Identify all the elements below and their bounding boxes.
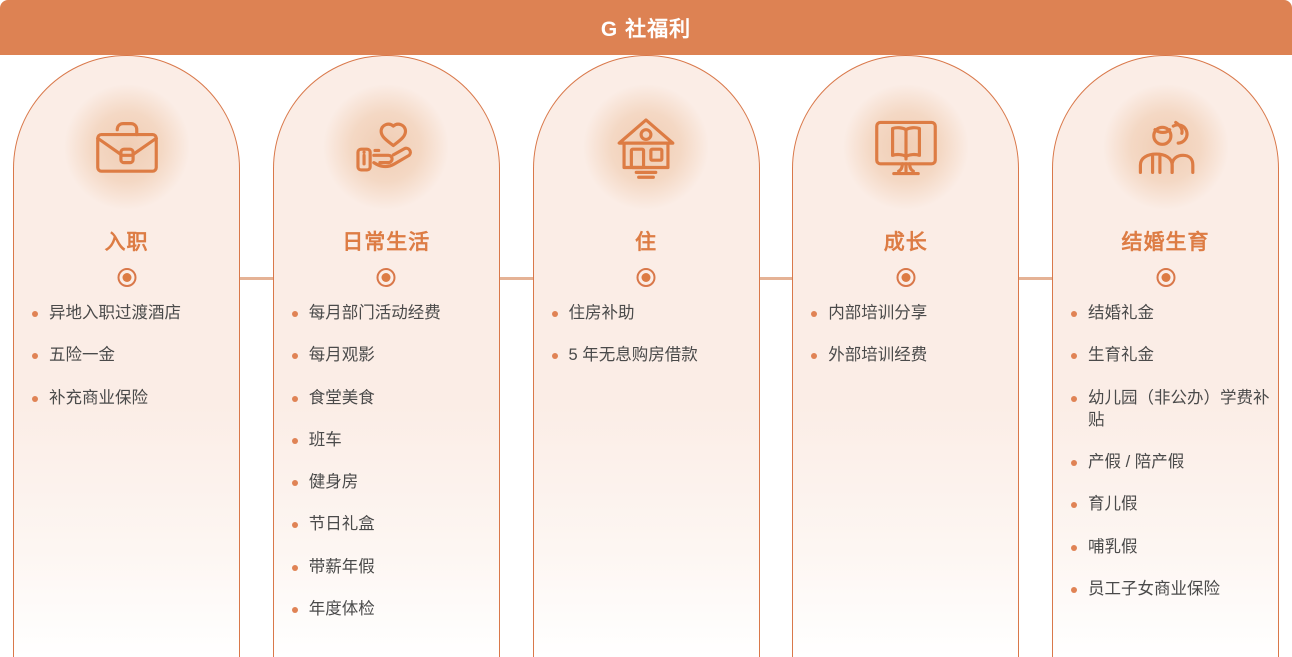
benefit-list: 结婚礼金生育礼金幼儿园（非公办）学费补贴产假 / 陪产假育儿假哺乳假员工子女商业… <box>1053 302 1278 620</box>
benefit-list-item-label: 异地入职过渡酒店 <box>49 302 233 324</box>
timeline-node <box>896 268 915 287</box>
benefit-list-item-label: 5 年无息购房借款 <box>569 344 753 366</box>
benefit-list-item: 员工子女商业保险 <box>1071 578 1272 600</box>
benefit-list-item-label: 每月部门活动经费 <box>309 302 493 324</box>
benefit-card-title: 结婚生育 <box>1053 226 1278 256</box>
benefit-list-item-label: 五险一金 <box>49 344 233 366</box>
benefit-list-item: 每月部门活动经费 <box>292 302 493 324</box>
benefit-list-item-label: 住房补助 <box>569 302 753 324</box>
benefit-list-item: 班车 <box>292 429 493 451</box>
bullet-icon <box>32 353 38 359</box>
benefit-list-item-label: 班车 <box>309 429 493 451</box>
bullet-icon <box>1071 396 1077 402</box>
benefit-list: 内部培训分享外部培训经费 <box>793 302 1018 387</box>
benefit-list-item: 外部培训经费 <box>811 344 1012 366</box>
benefit-list: 住房补助5 年无息购房借款 <box>534 302 759 387</box>
bullet-icon <box>292 438 298 444</box>
bullet-icon <box>1071 460 1077 466</box>
bullet-icon <box>1071 353 1077 359</box>
bullet-icon <box>292 565 298 571</box>
benefit-list-item-label: 哺乳假 <box>1088 536 1272 558</box>
benefit-card: 结婚生育结婚礼金生育礼金幼儿园（非公办）学费补贴产假 / 陪产假育儿假哺乳假员工… <box>1052 55 1279 657</box>
benefit-list-item-label: 幼儿园（非公办）学费补贴 <box>1088 387 1272 432</box>
benefit-list-item: 食堂美食 <box>292 387 493 409</box>
benefit-card: 住住房补助5 年无息购房借款 <box>533 55 760 657</box>
bullet-icon <box>1071 545 1077 551</box>
benefit-card: 日常生活每月部门活动经费每月观影食堂美食班车健身房节日礼盒带薪年假年度体检 <box>273 55 500 657</box>
benefit-list-item: 哺乳假 <box>1071 536 1272 558</box>
couple-icon <box>1124 106 1208 190</box>
benefit-list-item: 生育礼金 <box>1071 344 1272 366</box>
benefit-list-item-label: 带薪年假 <box>309 556 493 578</box>
bullet-icon <box>292 607 298 613</box>
bullet-icon <box>32 311 38 317</box>
benefit-list-item: 住房补助 <box>552 302 753 324</box>
bullet-icon <box>292 396 298 402</box>
benefit-list-item-label: 补充商业保险 <box>49 387 233 409</box>
bullet-icon <box>552 353 558 359</box>
benefit-list-item-label: 年度体检 <box>309 598 493 620</box>
bullet-icon <box>1071 502 1077 508</box>
benefit-list-item-label: 员工子女商业保险 <box>1088 578 1272 600</box>
benefit-list-item: 育儿假 <box>1071 493 1272 515</box>
benefit-list-item-label: 内部培训分享 <box>828 302 1012 324</box>
benefit-list: 异地入职过渡酒店五险一金补充商业保险 <box>14 302 239 429</box>
benefit-list-item: 带薪年假 <box>292 556 493 578</box>
benefit-list-item-label: 育儿假 <box>1088 493 1272 515</box>
bullet-icon <box>1071 587 1077 593</box>
bullet-icon <box>292 480 298 486</box>
benefit-list-item-label: 产假 / 陪产假 <box>1088 451 1272 473</box>
benefit-list-item: 节日礼盒 <box>292 513 493 535</box>
benefit-list-item-label: 结婚礼金 <box>1088 302 1272 324</box>
bullet-icon <box>811 353 817 359</box>
bullet-icon <box>292 522 298 528</box>
benefit-card-title: 入职 <box>14 226 239 256</box>
bullet-icon <box>32 396 38 402</box>
benefit-list-item: 每月观影 <box>292 344 493 366</box>
timeline-node <box>117 268 136 287</box>
bullet-icon <box>552 311 558 317</box>
benefit-list-item: 异地入职过渡酒店 <box>32 302 233 324</box>
benefit-card: 入职异地入职过渡酒店五险一金补充商业保险 <box>13 55 240 657</box>
house-icon <box>604 106 688 190</box>
benefit-list-item-label: 每月观影 <box>309 344 493 366</box>
bullet-icon <box>811 311 817 317</box>
benefit-list-item: 结婚礼金 <box>1071 302 1272 324</box>
benefit-card-title: 成长 <box>793 226 1018 256</box>
benefit-list-item-label: 食堂美食 <box>309 387 493 409</box>
benefit-list-item-label: 外部培训经费 <box>828 344 1012 366</box>
benefit-list-item: 健身房 <box>292 471 493 493</box>
benefit-list-item: 幼儿园（非公办）学费补贴 <box>1071 387 1272 432</box>
bullet-icon <box>292 353 298 359</box>
benefit-list-item-label: 健身房 <box>309 471 493 493</box>
benefit-columns: 入职异地入职过渡酒店五险一金补充商业保险 日常生活每月部门活动经费每月观影食堂美… <box>0 55 1292 657</box>
timeline-node <box>1156 268 1175 287</box>
benefit-list: 每月部门活动经费每月观影食堂美食班车健身房节日礼盒带薪年假年度体检 <box>274 302 499 640</box>
page-title: G 社福利 <box>601 13 691 43</box>
benefit-list-item: 年度体检 <box>292 598 493 620</box>
timeline-node <box>637 268 656 287</box>
benefit-list-item: 产假 / 陪产假 <box>1071 451 1272 473</box>
benefit-list-item: 五险一金 <box>32 344 233 366</box>
timeline-node <box>377 268 396 287</box>
benefit-card-title: 住 <box>534 226 759 256</box>
benefit-card: 成长内部培训分享外部培训经费 <box>792 55 1019 657</box>
bullet-icon <box>1071 311 1077 317</box>
benefit-list-item: 内部培训分享 <box>811 302 1012 324</box>
benefit-list-item-label: 生育礼金 <box>1088 344 1272 366</box>
benefit-list-item: 补充商业保险 <box>32 387 233 409</box>
benefit-card-title: 日常生活 <box>274 226 499 256</box>
page-header-banner: G 社福利 <box>0 0 1292 55</box>
hand-heart-icon <box>344 106 428 190</box>
benefit-list-item-label: 节日礼盒 <box>309 513 493 535</box>
briefcase-icon <box>85 106 169 190</box>
benefit-list-item: 5 年无息购房借款 <box>552 344 753 366</box>
bullet-icon <box>292 311 298 317</box>
monitor-book-icon <box>864 106 948 190</box>
benefits-board: 入职异地入职过渡酒店五险一金补充商业保险 日常生活每月部门活动经费每月观影食堂美… <box>0 55 1292 657</box>
